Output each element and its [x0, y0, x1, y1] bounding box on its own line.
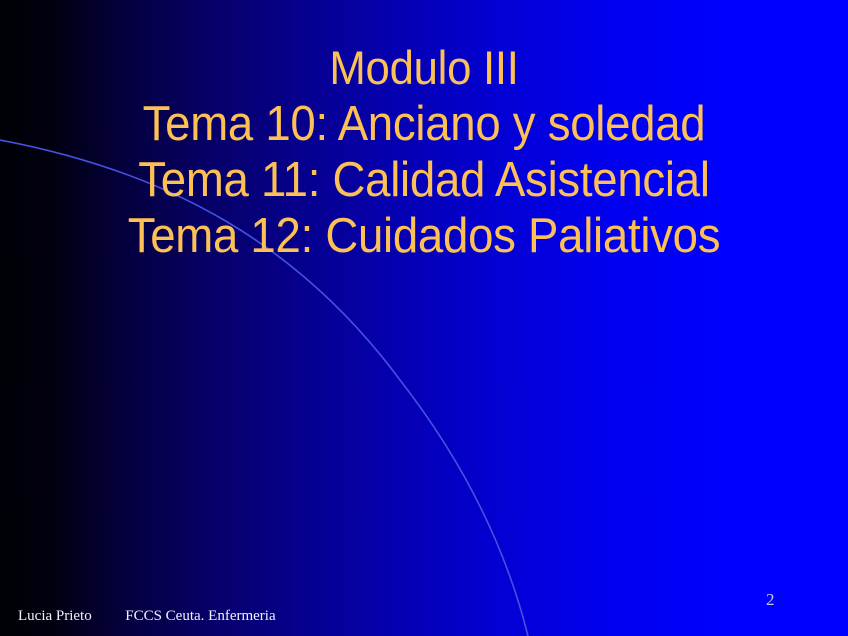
title-line-tema-12: Tema 12: Cuidados Paliativos: [30, 208, 819, 264]
slide-footer: Lucia Prieto FCCS Ceuta. Enfermeria: [18, 607, 276, 625]
footer-author: Lucia Prieto: [18, 608, 92, 624]
page-number: 2: [766, 590, 775, 610]
title-line-module: Modulo III: [30, 40, 819, 96]
footer-organization: FCCS Ceuta. Enfermeria: [125, 608, 275, 624]
slide-title-block: Modulo III Tema 10: Anciano y soledad Te…: [0, 40, 848, 264]
title-line-tema-11: Tema 11: Calidad Asistencial: [30, 152, 819, 208]
presentation-slide: Modulo III Tema 10: Anciano y soledad Te…: [0, 0, 848, 636]
title-line-tema-10: Tema 10: Anciano y soledad: [30, 96, 819, 152]
